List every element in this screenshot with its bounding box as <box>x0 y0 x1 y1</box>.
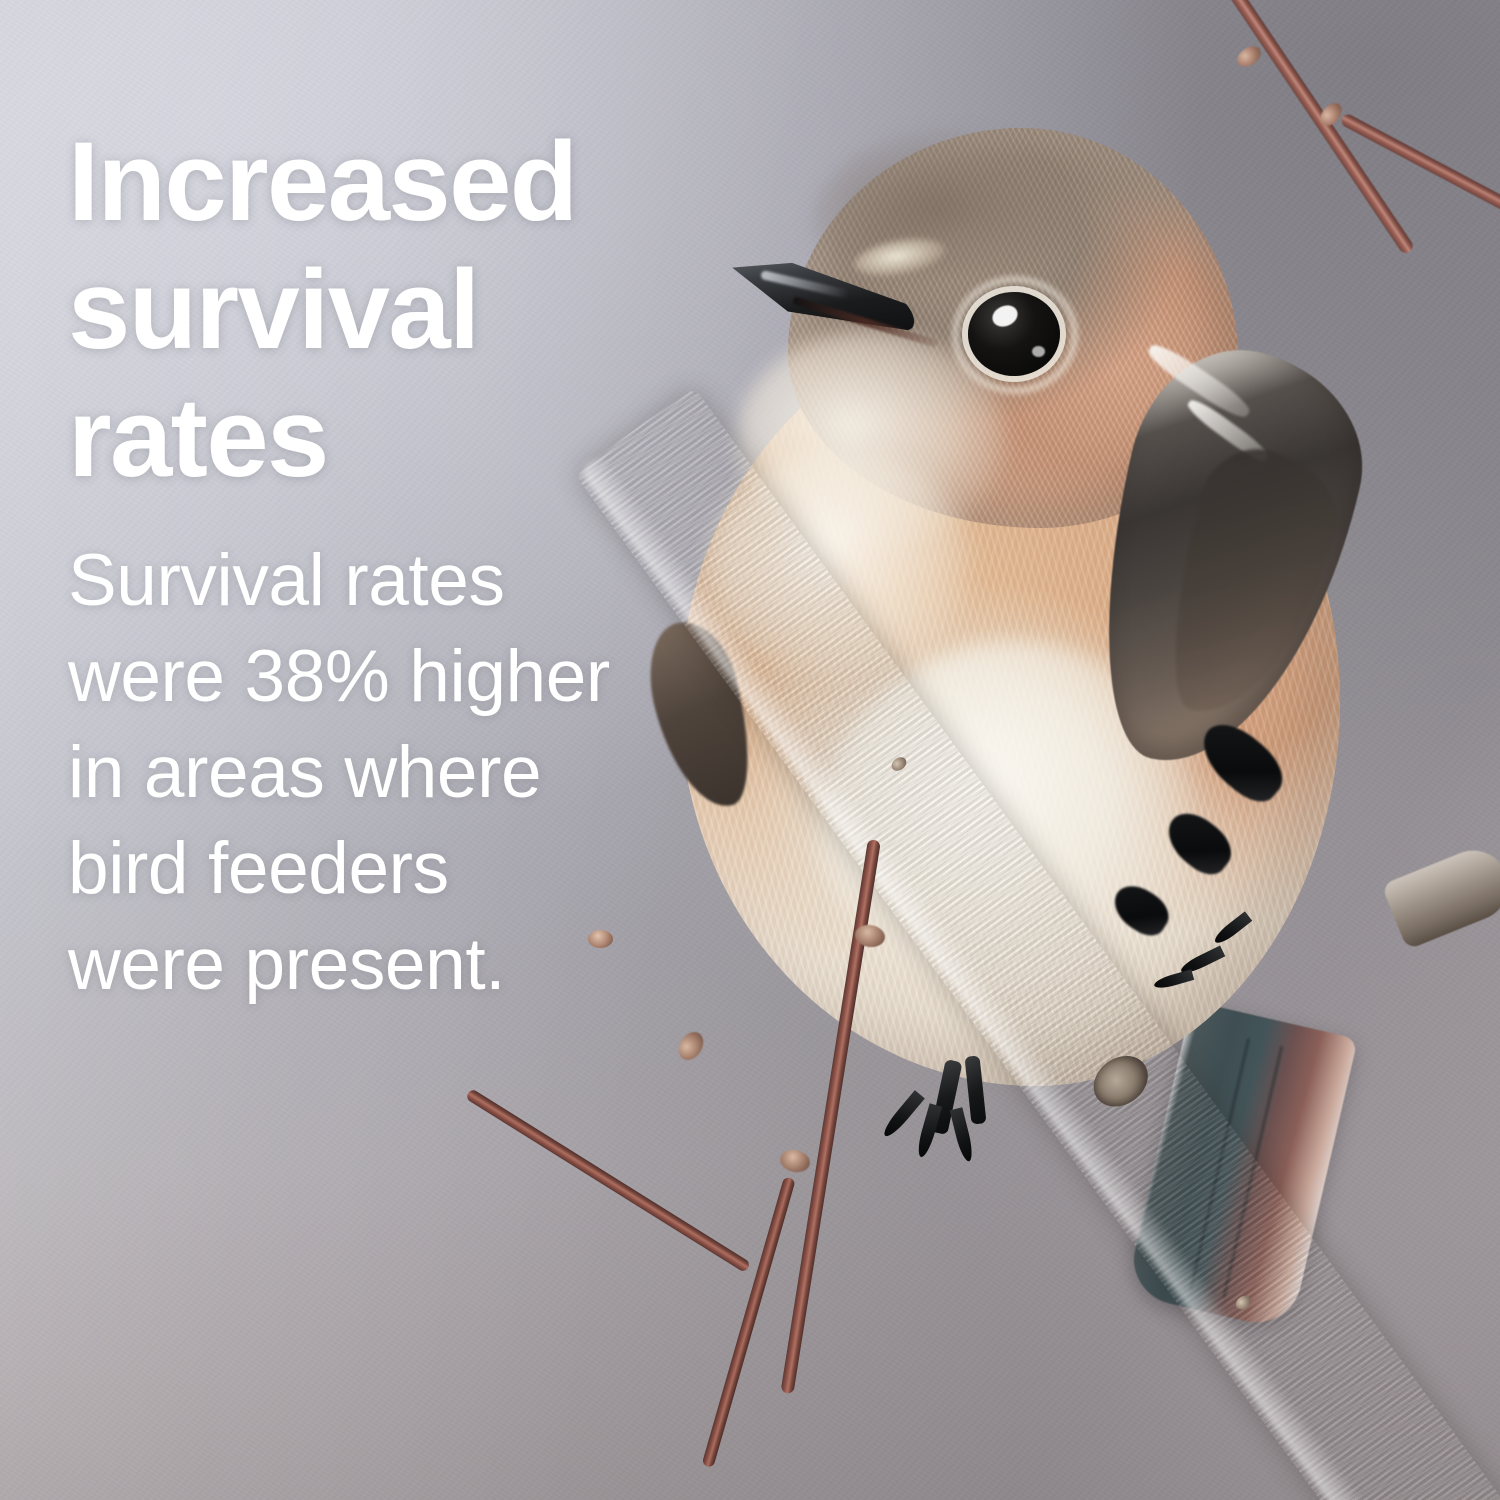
bird-eye <box>968 292 1060 376</box>
text-overlay: Increased survival rates Survival rates … <box>68 118 728 1013</box>
poster: Increased survival rates Survival rates … <box>0 0 1500 1500</box>
headline: Increased survival rates <box>68 118 728 503</box>
body-text: Survival rates were 38% higher in areas … <box>68 533 728 1013</box>
bird-eye-highlight-secondary <box>1032 346 1045 357</box>
